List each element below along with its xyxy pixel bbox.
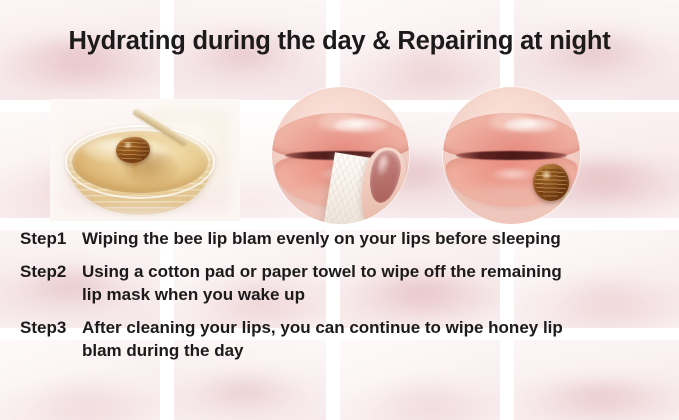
lips-honey-dipper-photo [443, 87, 580, 224]
step-line-1: Using a cotton pad or paper towel to wip… [82, 262, 562, 281]
lip-care-instruction-poster: Hydrating during the day & Repairing at … [0, 0, 679, 420]
poster-content: Hydrating during the day & Repairing at … [0, 0, 679, 420]
step-line-1: After cleaning your lips, you can contin… [82, 318, 563, 337]
steps-list: Step1 Wiping the bee lip blam evenly on … [0, 228, 679, 373]
lip-gloss-highlight [334, 118, 386, 133]
lips-cotton-pad-photo [272, 87, 409, 224]
step-label: Step3 [20, 317, 82, 339]
step-item-1: Step1 Wiping the bee lip blam evenly on … [0, 228, 679, 250]
step-line-2: blam during the day [82, 340, 667, 362]
dipper-grooves [533, 165, 569, 200]
honey-bowl-photo [50, 99, 240, 221]
lip-gloss-highlight [490, 168, 536, 180]
step-item-2: Step2 Using a cotton pad or paper towel … [0, 261, 679, 306]
step-line-1: Wiping the bee lip blam evenly on your l… [82, 229, 561, 248]
step-description: After cleaning your lips, you can contin… [82, 317, 679, 362]
step-description: Wiping the bee lip blam evenly on your l… [82, 228, 679, 250]
photo-row [0, 0, 679, 240]
step-item-3: Step3 After cleaning your lips, you can … [0, 317, 679, 362]
step-line-2: lip mask when you wake up [82, 284, 667, 306]
nail-highlight [375, 154, 391, 179]
bowl-rim [65, 125, 215, 199]
step-description: Using a cotton pad or paper towel to wip… [82, 261, 679, 306]
painted-fingernail [365, 148, 405, 205]
mouth-line [456, 151, 566, 160]
step-label: Step1 [20, 228, 82, 250]
step-label: Step2 [20, 261, 82, 283]
dipper-grooves [116, 138, 149, 163]
lip-gloss-highlight [505, 118, 557, 133]
